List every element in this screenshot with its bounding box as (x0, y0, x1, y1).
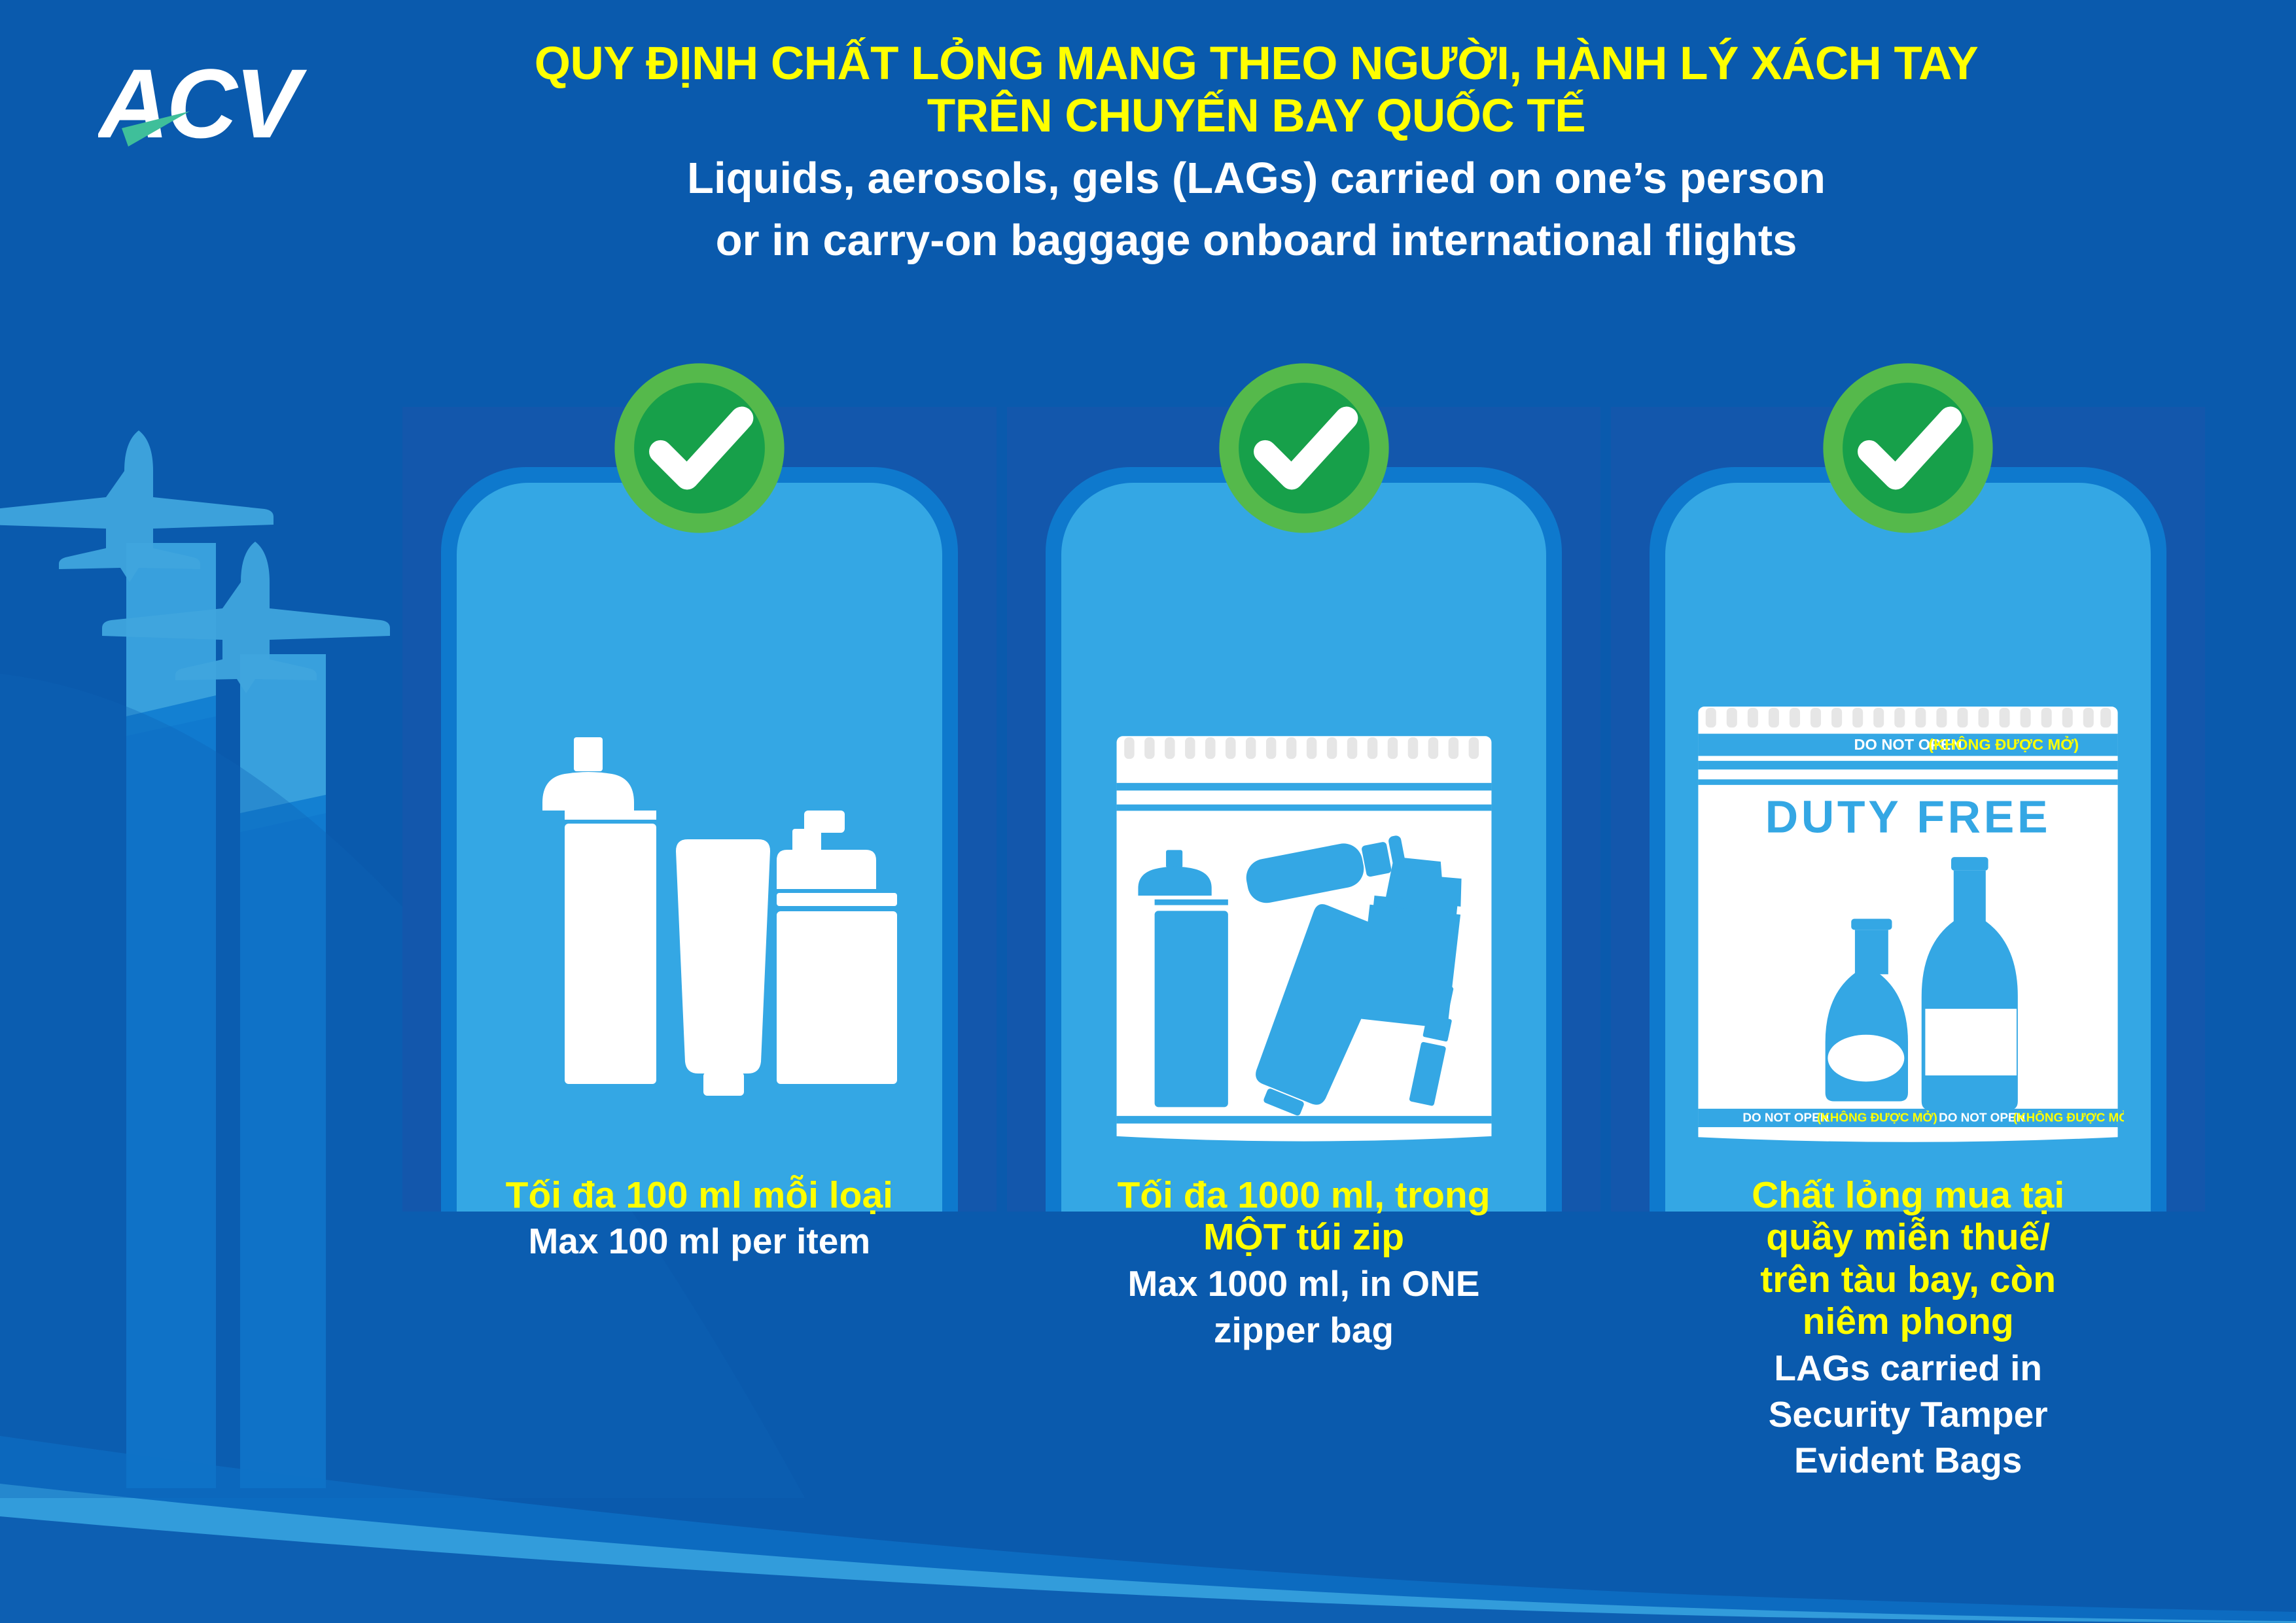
caption-en-line3: Evident Bags (1637, 1439, 2179, 1482)
card-frame (1046, 467, 1563, 1212)
bottles-icon (497, 731, 902, 1097)
card-body (457, 483, 942, 1212)
rule-card-max-1000ml (1007, 407, 1601, 1212)
check-icon (611, 360, 788, 536)
caption-vn-line1: Chất lỏng mua tại (1637, 1174, 2179, 1216)
check-mark-badge (1216, 360, 1392, 536)
title-en-line1: Liquids, aerosols, gels (LAGs) carried o… (419, 152, 2094, 204)
caption-card-1: Tối đa 100 ml mỗi loại Max 100 ml per it… (402, 1174, 997, 1482)
title-vn-line2: TRÊN CHUYẾN BAY QUỐC TẾ (419, 90, 2094, 143)
caption-card-3: Chất lỏng mua tại quầy miễn thuế/ trên t… (1611, 1174, 2205, 1482)
security-tamper-evident-bag-icon: DO NOT OPEN (KHÔNG ĐƯỢC MỞ) DUTY FREE (1692, 701, 2124, 1146)
check-icon (1216, 360, 1392, 536)
duty-free-bag-artwork: DO NOT OPEN (KHÔNG ĐƯỢC MỞ) DUTY FREE (1665, 701, 2151, 1146)
zipper-bag-icon (1108, 731, 1500, 1143)
check-mark-badge (611, 360, 788, 536)
caption-en: Max 100 ml per item (429, 1220, 970, 1263)
duty-free-label: DUTY FREE (1765, 792, 2051, 843)
toiletry-bottles-artwork (457, 731, 942, 1097)
title-vn-line1: QUY ĐỊNH CHẤT LỎNG MANG THEO NGƯỜI, HÀNH… (419, 38, 2094, 90)
check-icon (1820, 360, 1996, 536)
bag-warning-bottom-vn-2: (KHÔNG ĐƯỢC MỞ) (2013, 1111, 2124, 1125)
pump-bottle-icon (777, 811, 897, 1084)
rule-card-max-100ml (402, 407, 997, 1212)
acv-logo: ACV (98, 51, 360, 156)
cream-tube-icon (676, 839, 770, 1096)
card-captions-row: Tối đa 100 ml mỗi loại Max 100 ml per it… (402, 1174, 2205, 1482)
zipper-bag-artwork (1061, 731, 1547, 1143)
spray-can-icon (542, 737, 656, 1084)
caption-vn-line2: quầy miễn thuế/ (1637, 1216, 2179, 1258)
airplane-icon (102, 542, 390, 693)
card-body: DO NOT OPEN (KHÔNG ĐƯỢC MỞ) DUTY FREE (1665, 483, 2151, 1212)
caption-card-2: Tối đa 1000 ml, trong MỘT túi zip Max 10… (1007, 1174, 1601, 1482)
caption-en-line1: Max 1000 ml, in ONE (1033, 1263, 1575, 1305)
infographic-poster: ACV QUY ĐỊNH CHẤT LỎNG MANG THEO NGƯỜI, … (0, 0, 2296, 1623)
poster-header: QUY ĐỊNH CHẤT LỎNG MANG THEO NGƯỜI, HÀNH… (419, 38, 2094, 266)
rule-card-duty-free: DO NOT OPEN (KHÔNG ĐƯỢC MỞ) DUTY FREE (1611, 407, 2205, 1212)
bag-warning-bottom-vn-1: (KHÔNG ĐƯỢC MỞ) (1817, 1111, 1937, 1125)
bag-warning-top-vn: (KHÔNG ĐƯỢC MỞ) (1928, 735, 2079, 753)
caption-vn-line4: niêm phong (1637, 1300, 2179, 1342)
card-frame: DO NOT OPEN (KHÔNG ĐƯỢC MỞ) DUTY FREE (1650, 467, 2166, 1212)
card-frame (441, 467, 958, 1212)
acv-logo-mark: ACV (98, 51, 360, 156)
caption-vn-line1: Tối đa 1000 ml, trong (1033, 1174, 1575, 1216)
title-en-line2: or in carry-on baggage onboard internati… (419, 215, 2094, 266)
caption-vn: Tối đa 100 ml mỗi loại (429, 1174, 970, 1216)
check-mark-badge (1820, 360, 1996, 536)
caption-en-line1: LAGs carried in (1637, 1347, 2179, 1389)
airplane-trail-columns (126, 543, 326, 1488)
bag-warning-bottom-en-2: DO NOT OPEN (1939, 1111, 2025, 1125)
rules-card-row: DO NOT OPEN (KHÔNG ĐƯỢC MỞ) DUTY FREE (402, 407, 2205, 1212)
card-body (1061, 483, 1547, 1212)
bag-warning-bottom-en-1: DO NOT OPEN (1743, 1111, 1829, 1125)
caption-vn-line2: MỘT túi zip (1033, 1216, 1575, 1258)
caption-vn-line3: trên tàu bay, còn (1637, 1259, 2179, 1300)
caption-en-line2: Security Tamper (1637, 1393, 2179, 1436)
airplane-icon (0, 430, 274, 582)
caption-en-line2: zipper bag (1033, 1309, 1575, 1352)
